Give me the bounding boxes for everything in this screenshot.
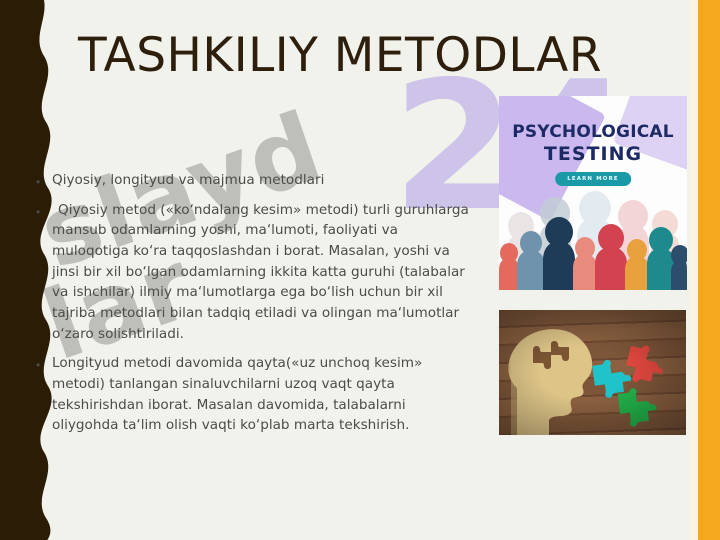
page-title: TASHKILIY METODLAR <box>78 30 678 82</box>
right-orange-stripe <box>698 0 720 540</box>
psychological-testing-poster[interactable]: PSYCHOLOGICAL TESTING LEARN MORE <box>499 96 687 290</box>
bullet-text: Qiyosiy metod («ko‘ndalang kesim» metodi… <box>52 200 476 345</box>
bullet-text: Longityud metodi davomida qayta(«uz unch… <box>52 353 476 436</box>
bullet-dot-icon <box>36 170 52 188</box>
bullet-dot-icon <box>36 200 52 218</box>
poster-subtitle: TESTING <box>499 143 687 165</box>
list-item: Qiyosiy metod («ko‘ndalang kesim» metodi… <box>36 200 476 345</box>
bullet-text: Qiyosiy, longityud va majmua metodlari <box>52 170 476 191</box>
bullet-dot-icon <box>36 353 52 371</box>
puzzle-head-photo[interactable] <box>499 310 686 435</box>
slide-canvas: slayd lar 24 TASHKILIY METODLAR Qiyosiy,… <box>0 0 720 540</box>
right-cream-stripe <box>690 0 698 540</box>
photo-vignette <box>499 310 686 435</box>
bullet-list: Qiyosiy, longityud va majmua metodlari Q… <box>36 170 476 445</box>
list-item: Qiyosiy, longityud va majmua metodlari <box>36 170 476 191</box>
list-item: Longityud metodi davomida qayta(«uz unch… <box>36 353 476 436</box>
crowd-silhouettes <box>499 180 687 290</box>
poster-title: PSYCHOLOGICAL <box>499 122 687 142</box>
